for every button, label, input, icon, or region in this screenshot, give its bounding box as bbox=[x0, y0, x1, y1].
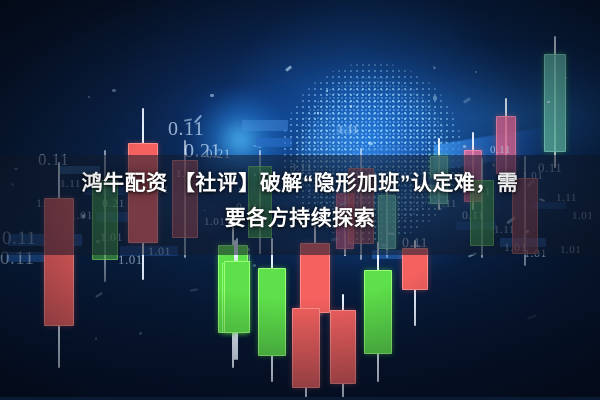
vignette-overlay bbox=[0, 0, 600, 400]
banner-image: 0.110.110.111.011.111.011.010.211.011.01… bbox=[0, 0, 600, 400]
